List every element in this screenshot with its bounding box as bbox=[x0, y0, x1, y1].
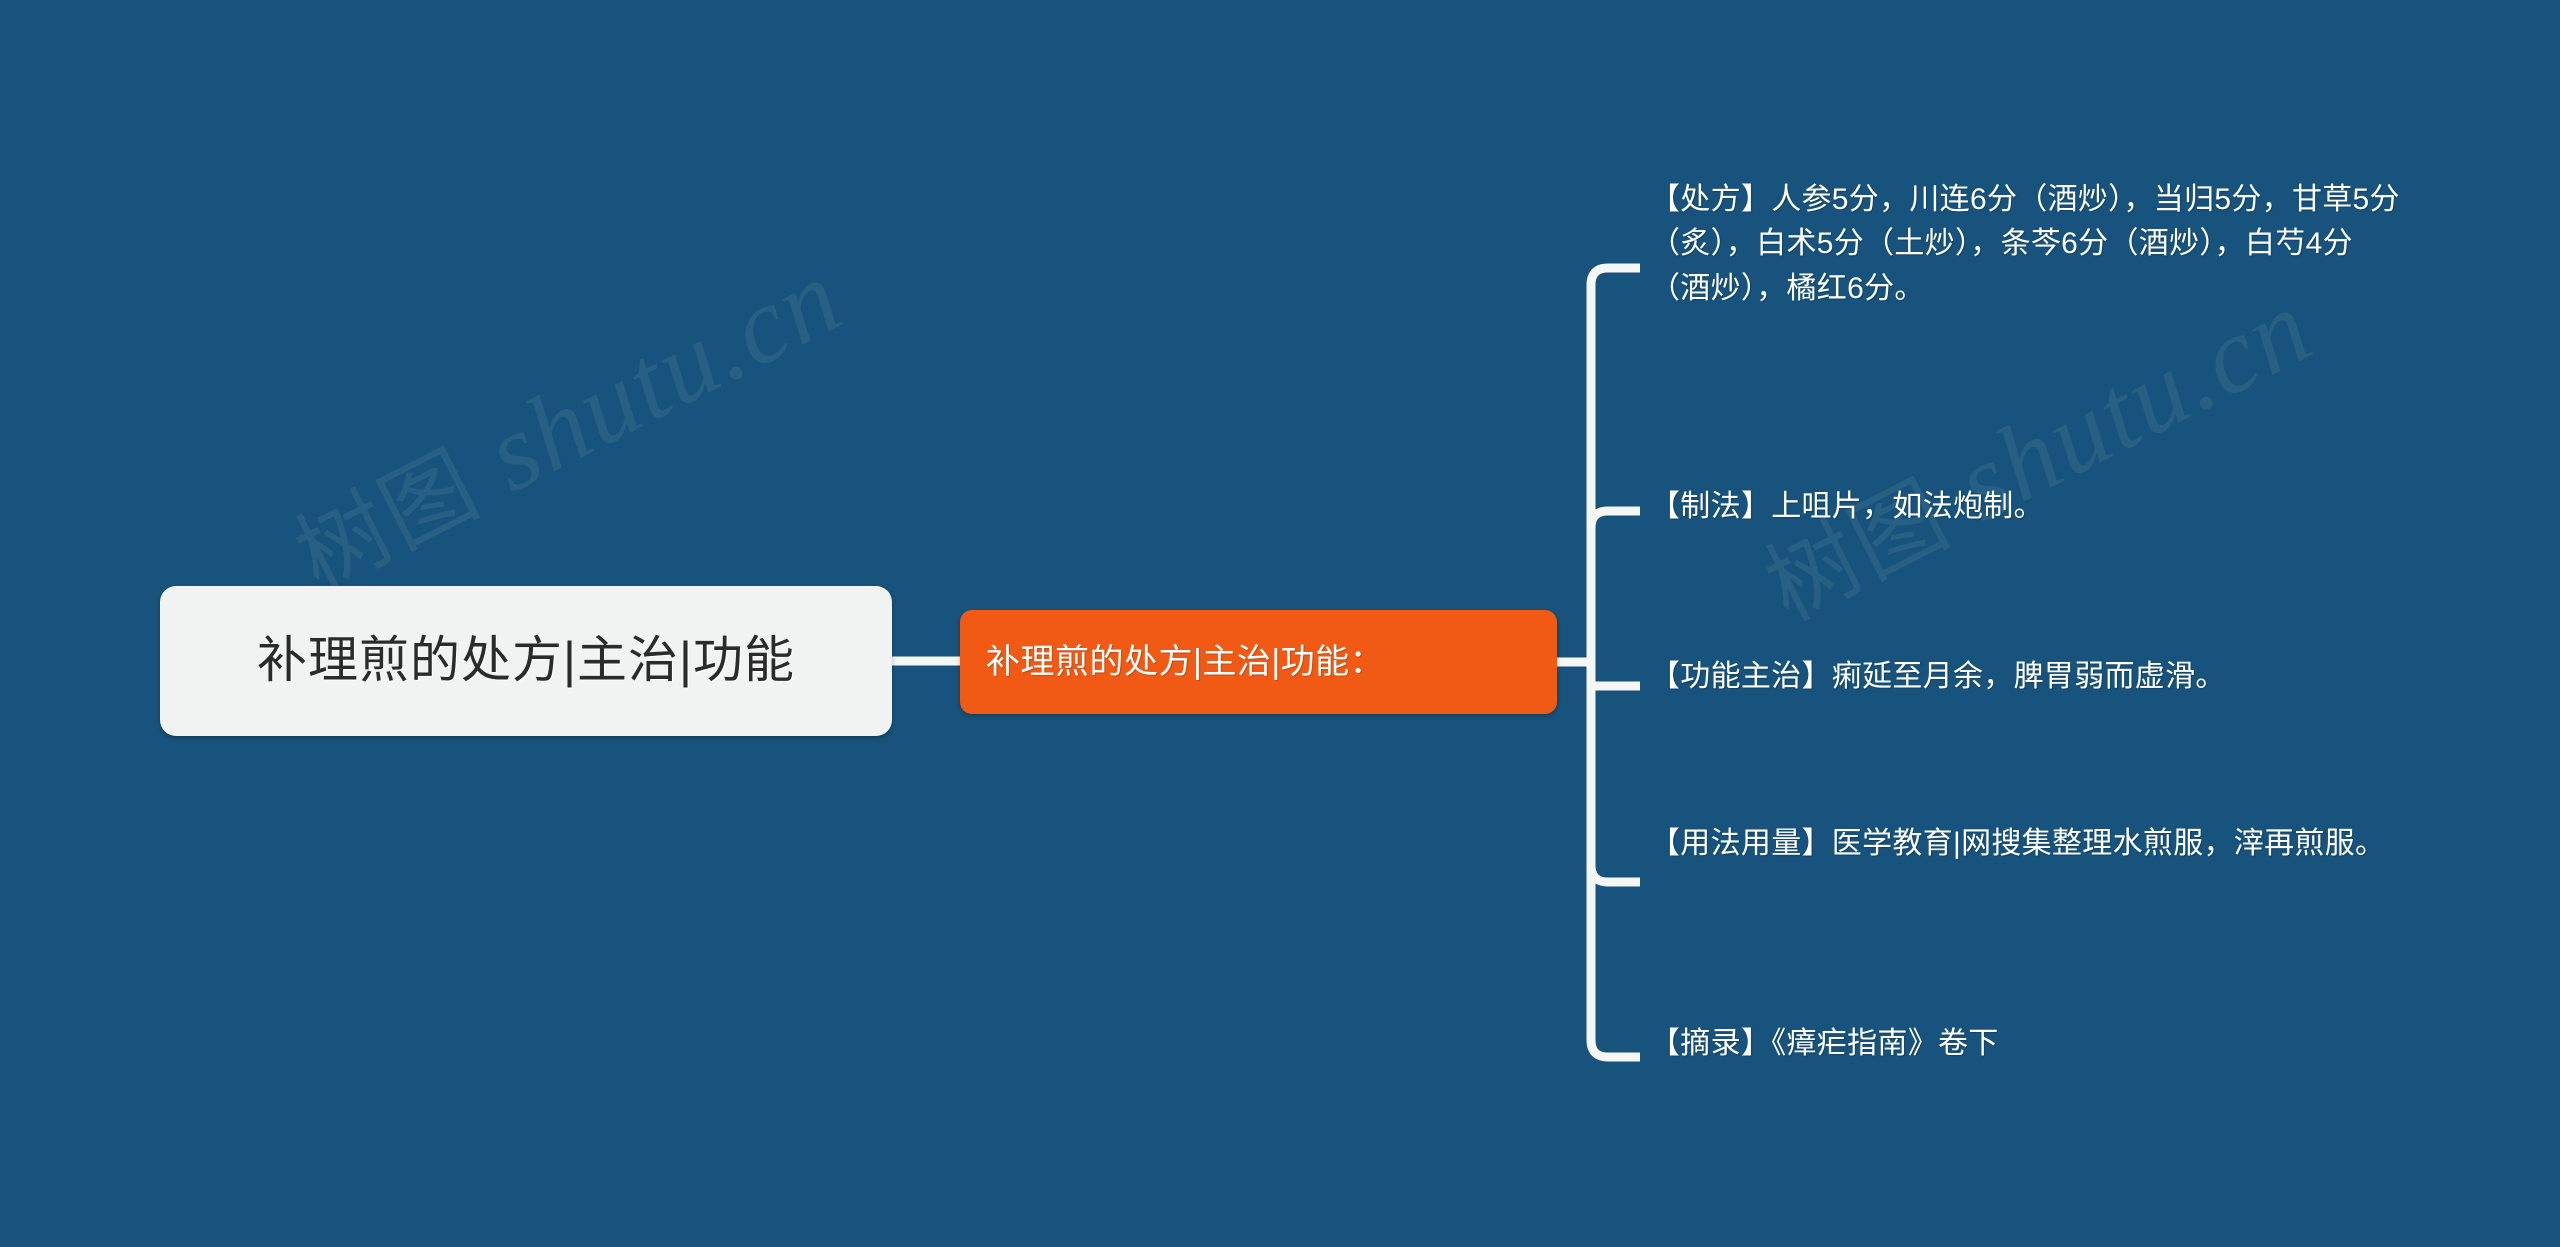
leaf-node-preparation[interactable]: 【制法】上咀片，如法炮制。 bbox=[1650, 485, 2410, 529]
root-node[interactable]: 补理煎的处方|主治|功能 bbox=[160, 586, 892, 736]
watermark-latin: shutu.cn bbox=[442, 236, 860, 527]
leaf-node-dosage[interactable]: 【用法用量】医学教育|网搜集整理水煎服，滓再煎服。 bbox=[1650, 822, 2420, 866]
mindmap-canvas: 树图 shutu.cn 树图 shutu.cn 补理煎的处方|主治|功能 bbox=[0, 0, 2560, 1247]
topic-node-label: 补理煎的处方|主治|功能： bbox=[960, 642, 1384, 683]
watermark-cjk: 树图 bbox=[279, 431, 495, 612]
connector-branch-3 bbox=[1591, 865, 1640, 882]
connector-branch-1 bbox=[1591, 511, 1640, 528]
topic-node[interactable]: 补理煎的处方|主治|功能： bbox=[960, 610, 1557, 714]
root-node-label: 补理煎的处方|主治|功能 bbox=[257, 632, 795, 690]
watermark: 树图 shutu.cn bbox=[1740, 257, 2331, 646]
leaf-node-indications[interactable]: 【功能主治】痢延至月余，脾胃弱而虚滑。 bbox=[1650, 655, 2440, 699]
leaf-node-source[interactable]: 【摘录】《瘴疟指南》卷下 bbox=[1650, 1022, 2410, 1066]
connector-branch-4 bbox=[1591, 1040, 1640, 1057]
leaf-node-prescription[interactable]: 【处方】人参5分，川连6分（酒炒），当归5分，甘草5分（炙），白术5分（土炒），… bbox=[1650, 178, 2410, 311]
watermark: 树图 shutu.cn bbox=[270, 227, 861, 616]
connector-branch-0 bbox=[1591, 268, 1640, 285]
